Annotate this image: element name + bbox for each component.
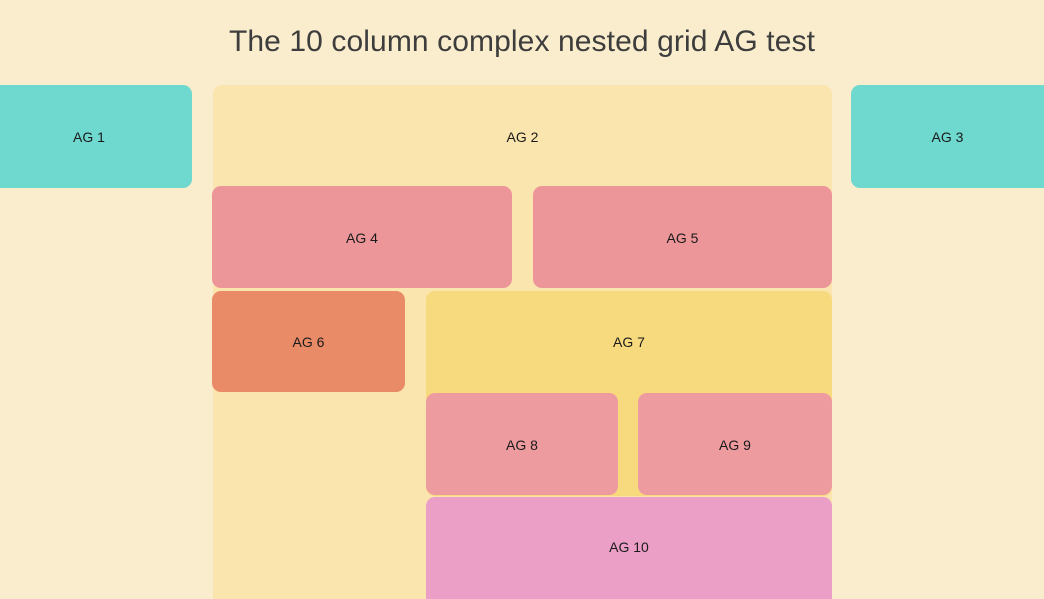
page-root: The 10 column complex nested grid AG tes… [0, 0, 1044, 599]
grid-cell-ag5[interactable]: AG 5 [533, 186, 832, 288]
grid-cell-ag3[interactable]: AG 3 [851, 85, 1044, 188]
grid-cell-label: AG 9 [638, 437, 832, 453]
grid-cell-label: AG 4 [212, 230, 512, 246]
grid-cell-ag1[interactable]: AG 1 [0, 85, 192, 188]
grid-cell-label: AG 3 [851, 129, 1044, 145]
grid-cell-label: AG 10 [426, 539, 832, 555]
grid-cell-label: AG 2 [213, 129, 832, 145]
grid-cell-ag9[interactable]: AG 9 [638, 393, 832, 495]
grid-cell-label: AG 5 [533, 230, 832, 246]
grid-cell-label: AG 6 [212, 334, 405, 350]
grid-cell-ag6[interactable]: AG 6 [212, 291, 405, 392]
grid-cell-ag4[interactable]: AG 4 [212, 186, 512, 288]
grid-cell-label: AG 1 [0, 129, 192, 145]
page-title: The 10 column complex nested grid AG tes… [0, 22, 1044, 62]
grid-cell-ag8[interactable]: AG 8 [426, 393, 618, 495]
grid-cell-label: AG 7 [426, 334, 832, 350]
grid-cell-ag10[interactable]: AG 10 [426, 497, 832, 599]
grid-cell-label: AG 8 [426, 437, 618, 453]
